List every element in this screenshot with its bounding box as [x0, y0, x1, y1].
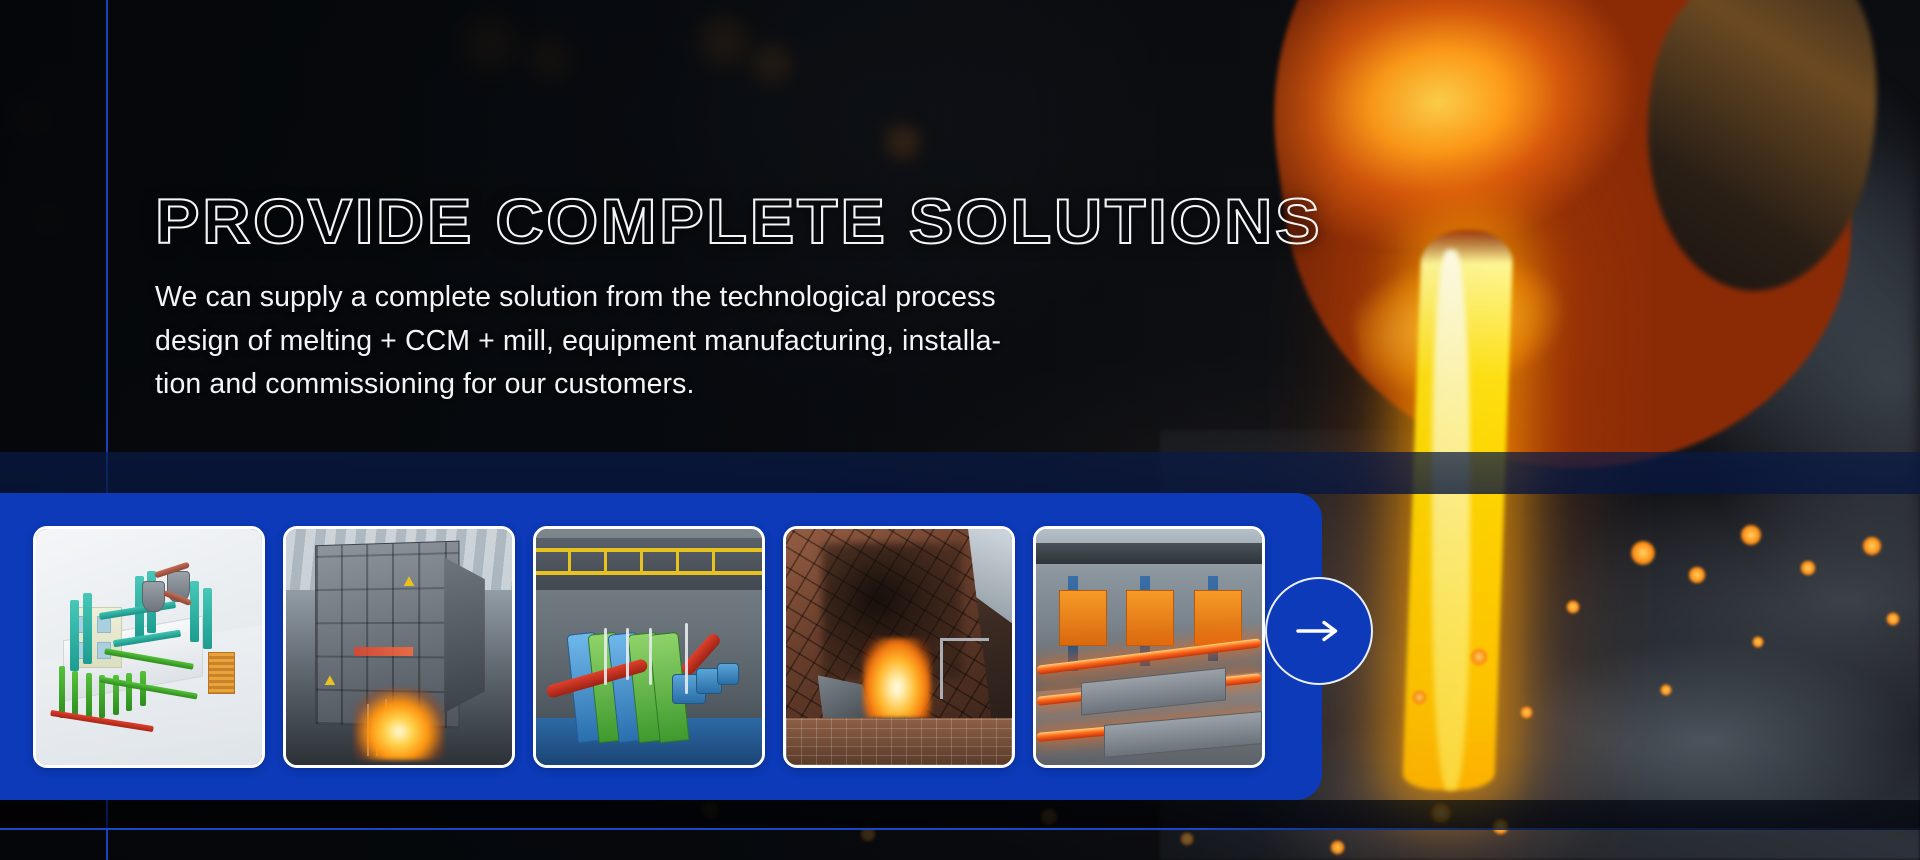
hero-copy: PROVIDE COMPLETE SOLUTIONS We can supply… — [155, 190, 1185, 406]
hero-paragraph-line-2: design of melting + CCM + mill, equipmen… — [155, 320, 1120, 363]
carousel-thumbnail-5[interactable] — [1033, 526, 1265, 768]
thumbnail-2-image — [286, 529, 512, 765]
thumbnail-1-image — [36, 529, 262, 765]
arrow-right-icon — [1296, 618, 1342, 644]
navy-band-top — [0, 452, 1920, 494]
thumbnail-5-image — [1036, 529, 1262, 765]
horizontal-guide-line — [0, 828, 1920, 830]
carousel-thumbnail-2[interactable] — [283, 526, 515, 768]
hero-paragraph-line-3: tion and commissioning for our customers… — [155, 363, 1120, 406]
hero-banner: PROVIDE COMPLETE SOLUTIONS We can supply… — [0, 0, 1920, 860]
carousel-thumbnail-3[interactable] — [533, 526, 765, 768]
thumbnail-list — [33, 526, 1265, 768]
hero-paragraph: We can supply a complete solution from t… — [155, 276, 1120, 406]
thumbnail-3-image — [536, 529, 762, 765]
thumbnail-4-image — [786, 529, 1012, 765]
thumbnail-carousel-panel — [0, 493, 1322, 800]
carousel-thumbnail-1[interactable] — [33, 526, 265, 768]
page-title: PROVIDE COMPLETE SOLUTIONS — [155, 190, 1247, 254]
carousel-next-button[interactable] — [1265, 577, 1373, 685]
navy-band-bottom — [0, 800, 1920, 830]
carousel-thumbnail-4[interactable] — [783, 526, 1015, 768]
hero-paragraph-line-1: We can supply a complete solution from t… — [155, 276, 1120, 319]
